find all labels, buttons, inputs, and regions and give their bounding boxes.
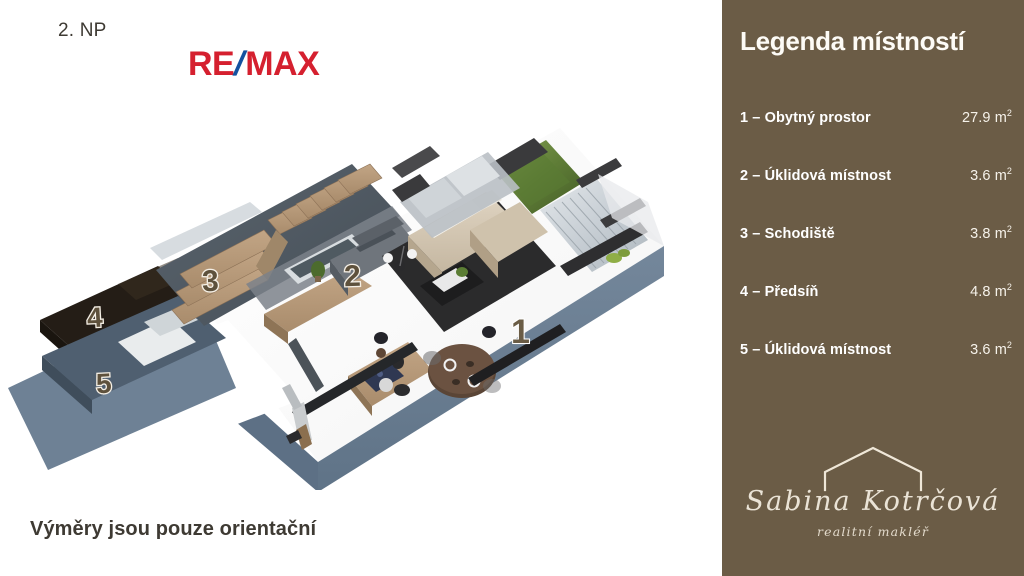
room-marker-3: 3: [201, 267, 219, 298]
legend-row-area-value: 4.8: [970, 284, 990, 300]
legend-row-area-value: 27.9: [962, 110, 991, 126]
legend-row-area: 4.8 m2: [970, 282, 1012, 300]
legend-row-area-exp: 2: [1007, 282, 1012, 292]
legend-title: Legenda místností: [740, 26, 1012, 57]
legend-row-area-unit: m: [995, 226, 1007, 242]
floorplan-render: 1 2 3 4 5: [0, 70, 722, 490]
room-marker-1: 1: [511, 315, 530, 349]
legend-row: 4 – Předsíň 4.8 m2: [740, 282, 1012, 340]
legend-row-area-value: 3.8: [970, 226, 990, 242]
agent-role: realitní makléř: [817, 524, 929, 539]
legend-row-area: 3.6 m2: [970, 340, 1012, 358]
legend-row-area-value: 3.6: [970, 342, 990, 358]
disclaimer-text: Výměry jsou pouze orientační: [30, 518, 316, 541]
legend-row: 5 – Úklidová místnost 3.6 m2: [740, 340, 1012, 398]
agent-signature: Sabina Kotrčová realitní makléř: [722, 442, 1024, 562]
screenshot-root: 2. NP RE/MAX: [0, 0, 1024, 576]
legend-row: 2 – Úklidová místnost 3.6 m2: [740, 166, 1012, 224]
room-marker-2: 2: [343, 262, 361, 293]
legend-row-label: 3 – Schodiště: [740, 226, 835, 242]
legend-row-area-value: 3.6: [970, 168, 990, 184]
floor-label: 2. NP: [58, 20, 107, 42]
legend-row-area-unit: m: [995, 342, 1007, 358]
legend-row-area-exp: 2: [1007, 224, 1012, 234]
room-marker-4: 4: [86, 304, 103, 333]
legend-row-area-unit: m: [995, 284, 1007, 300]
room-marker-5: 5: [95, 370, 112, 399]
legend-row-area-exp: 2: [1007, 340, 1012, 350]
legend-row-area: 3.8 m2: [970, 224, 1012, 242]
legend-row: 3 – Schodiště 3.8 m2: [740, 224, 1012, 282]
legend-row-label: 5 – Úklidová místnost: [740, 342, 891, 358]
legend-row: 1 – Obytný prostor 27.9 m2: [740, 108, 1012, 166]
legend-row-area: 27.9 m2: [962, 108, 1012, 126]
agent-name: Sabina Kotrčová: [746, 486, 1001, 517]
legend-list: 1 – Obytný prostor 27.9 m2 2 – Úklidová …: [740, 108, 1012, 398]
legend-row-label: 2 – Úklidová místnost: [740, 168, 891, 184]
legend-row-area-unit: m: [995, 168, 1007, 184]
legend-panel: Legenda místností 1 – Obytný prostor 27.…: [722, 0, 1024, 576]
legend-row-label: 4 – Předsíň: [740, 284, 818, 300]
legend-row-area-unit: m: [995, 110, 1007, 126]
legend-row-area-exp: 2: [1007, 166, 1012, 176]
legend-row-area: 3.6 m2: [970, 166, 1012, 184]
legend-row-area-exp: 2: [1007, 108, 1012, 118]
legend-row-label: 1 – Obytný prostor: [740, 110, 871, 126]
